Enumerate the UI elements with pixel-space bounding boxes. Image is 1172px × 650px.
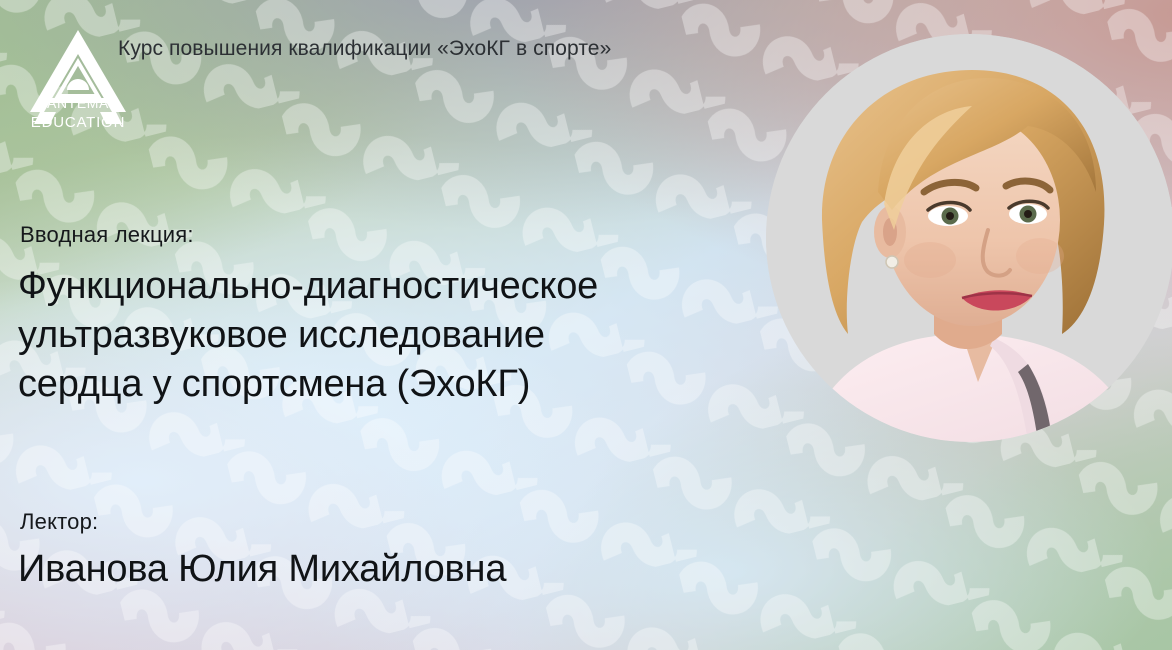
lecture-eyebrow: Вводная лекция: xyxy=(20,222,194,248)
lecture-title-line-1: Функционально-диагностическое xyxy=(18,262,798,311)
portrait-photo xyxy=(766,34,1172,442)
antema-logo: ANTEMA EDUCATION xyxy=(26,26,130,134)
lecture-title: Функционально-диагностическое ультразвук… xyxy=(18,262,798,409)
logo-tagline: EDUCATION xyxy=(31,114,125,131)
course-title: Курс повышения квалификации «ЭхоКГ в спо… xyxy=(118,37,611,61)
lecture-title-line-3: сердца у спортсмена (ЭхоКГ) xyxy=(18,360,798,409)
lecturer-portrait xyxy=(766,34,1172,442)
lecture-title-line-2: ультразвуковое исследование xyxy=(18,311,798,360)
speaker-eyebrow: Лектор: xyxy=(20,509,98,535)
logo-wordmark: ANTEMA xyxy=(47,95,109,111)
speaker-name: Иванова Юлия Михайловна xyxy=(18,548,506,591)
lecture-title-slide: ANTEMA EDUCATION Курс повышения квалифик… xyxy=(0,0,1172,650)
